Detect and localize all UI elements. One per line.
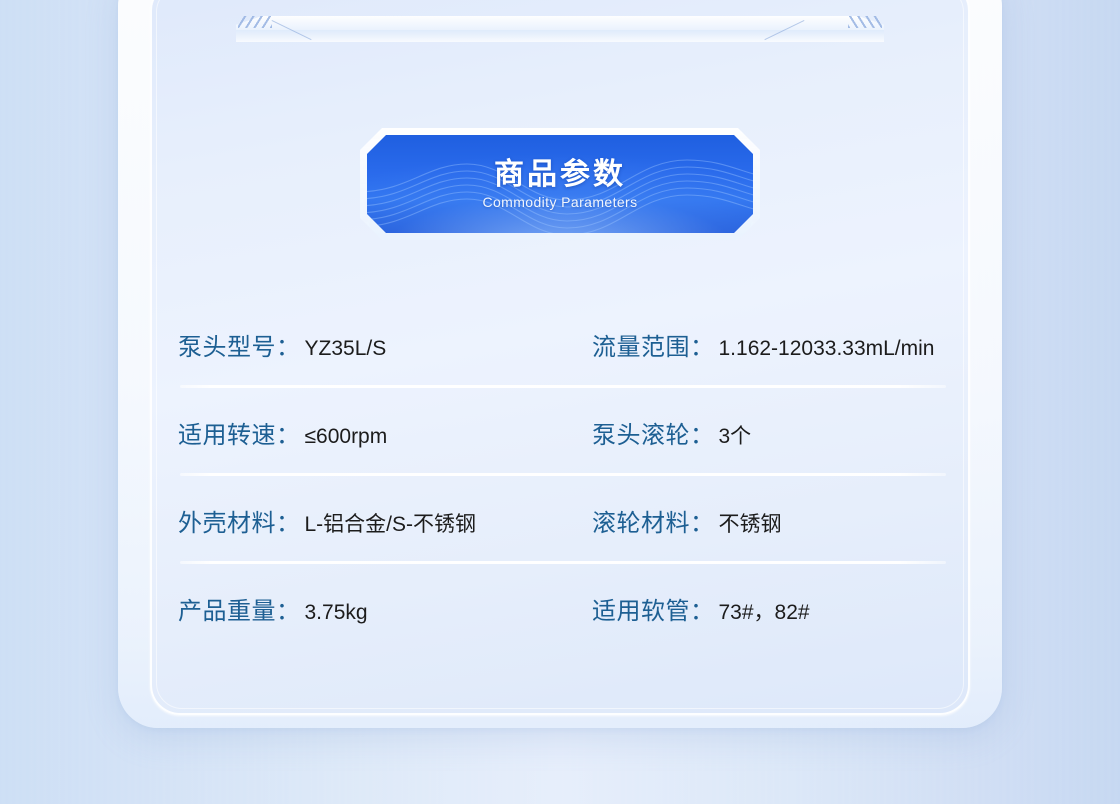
param-cell: 泵头滚轮： 3个 xyxy=(592,415,946,450)
param-value: YZ35L/S xyxy=(305,337,387,361)
table-row: 适用转速： ≤600rpm 泵头滚轮： 3个 xyxy=(178,388,946,476)
param-label: 外壳材料： xyxy=(178,503,301,538)
param-value: 3个 xyxy=(719,420,752,450)
param-value: 3.75kg xyxy=(305,601,368,625)
top-tech-decoration xyxy=(236,0,884,42)
table-row: 产品重量： 3.75kg 适用软管： 73#，82# xyxy=(178,564,946,652)
param-label: 泵头型号： xyxy=(178,327,301,362)
param-value: 73#，82# xyxy=(719,596,810,626)
param-label: 产品重量： xyxy=(178,591,301,626)
param-label: 流量范围： xyxy=(592,327,715,362)
param-cell: 泵头型号： YZ35L/S xyxy=(178,327,592,362)
param-label: 适用软管： xyxy=(592,591,715,626)
hatch-marks-right-icon xyxy=(848,16,882,28)
param-cell: 产品重量： 3.75kg xyxy=(178,591,592,626)
banner-text-block: 商品参数 Commodity Parameters xyxy=(367,135,753,233)
banner-title-cn: 商品参数 xyxy=(494,158,626,193)
banner-title-en: Commodity Parameters xyxy=(482,194,637,210)
hatch-marks-left-icon xyxy=(238,16,272,28)
param-value: ≤600rpm xyxy=(305,425,388,449)
param-label: 泵头滚轮： xyxy=(592,415,715,450)
param-value: L-铝合金/S-不锈钢 xyxy=(305,508,477,538)
param-cell: 流量范围： 1.162-12033.33mL/min xyxy=(592,327,946,362)
param-label: 适用转速： xyxy=(178,415,301,450)
param-cell: 外壳材料： L-铝合金/S-不锈钢 xyxy=(178,503,592,538)
param-label: 滚轮材料： xyxy=(592,503,715,538)
section-banner: 商品参数 Commodity Parameters xyxy=(360,128,760,240)
table-row: 外壳材料： L-铝合金/S-不锈钢 滚轮材料： 不锈钢 xyxy=(178,476,946,564)
param-value: 1.162-12033.33mL/min xyxy=(719,337,935,361)
parameter-table: 泵头型号： YZ35L/S 流量范围： 1.162-12033.33mL/min… xyxy=(178,300,946,652)
banner-plate: 商品参数 Commodity Parameters xyxy=(367,135,753,233)
param-cell: 滚轮材料： 不锈钢 xyxy=(592,503,946,538)
table-row: 泵头型号： YZ35L/S 流量范围： 1.162-12033.33mL/min xyxy=(178,300,946,388)
param-value: 不锈钢 xyxy=(719,508,782,538)
param-cell: 适用软管： 73#，82# xyxy=(592,591,946,626)
param-cell: 适用转速： ≤600rpm xyxy=(178,415,592,450)
